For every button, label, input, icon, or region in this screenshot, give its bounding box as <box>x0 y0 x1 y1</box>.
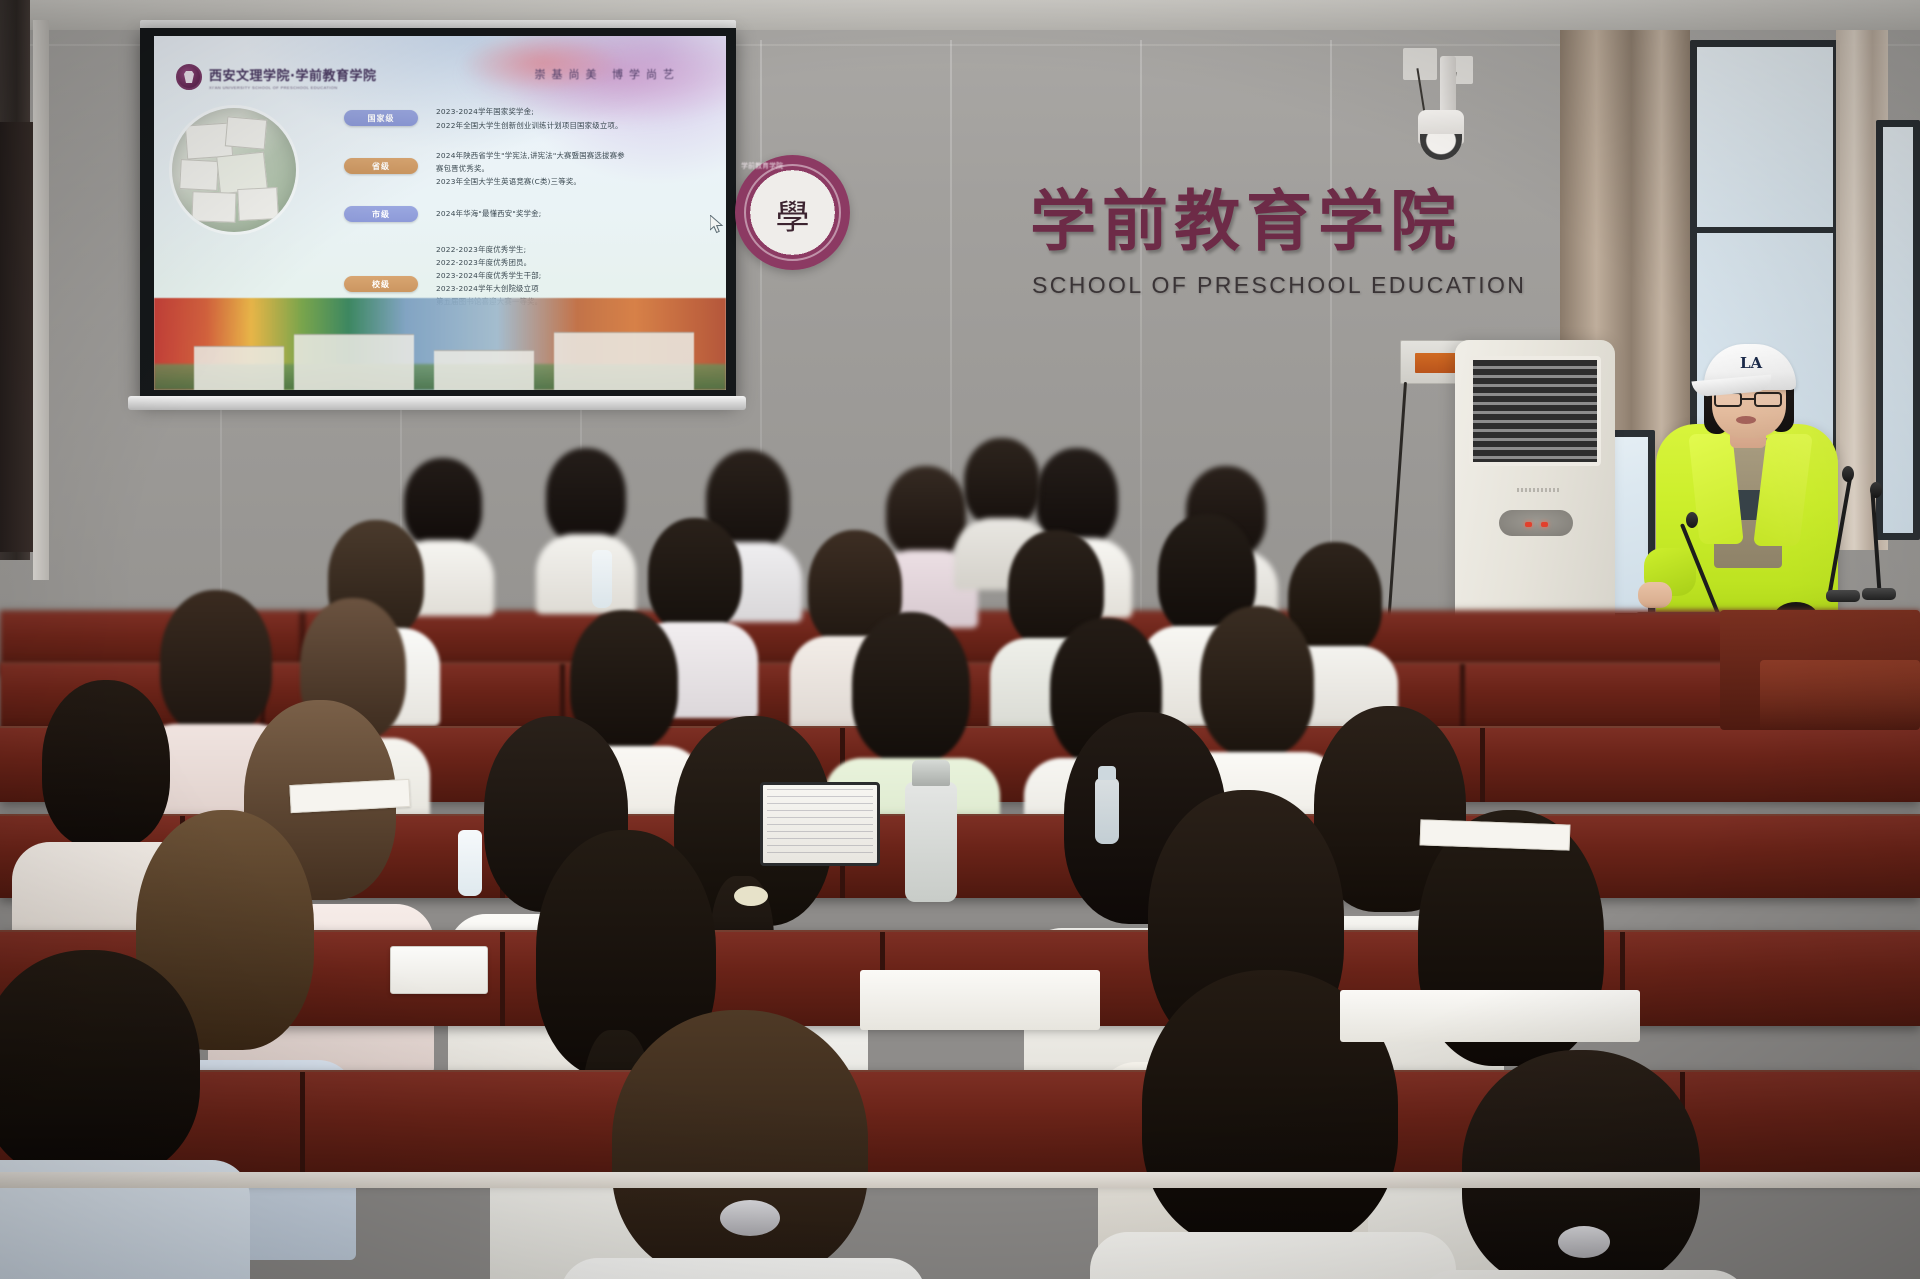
slide-badge-national: 国家级 <box>344 110 418 126</box>
projector-screen-bottom-bar <box>128 396 746 410</box>
school-name-en: SCHOOL OF PRESCHOOL EDUCATION <box>1032 272 1526 299</box>
white-box[interactable] <box>390 946 488 994</box>
audience-person <box>0 950 220 1279</box>
audience-area <box>0 430 1920 1279</box>
slide-line-national-2: 2022年全国大学生创新创业训练计划项目国家级立项。 <box>436 120 726 132</box>
slide-line-municipal-1: 2024年华海"最懂西安"奖学金; <box>436 208 726 220</box>
thermos-cap <box>912 760 950 786</box>
hair-clip <box>1558 1226 1610 1258</box>
slide-line-provincial-1: 2024年陕西省学生"学宪法,讲宪法"大赛暨国赛选拔赛参 <box>436 150 726 162</box>
slide-line-school-1: 2022-2023年度优秀学生; <box>436 244 726 256</box>
slide-badge-provincial: 省级 <box>344 158 418 174</box>
cap-logo-text: LA <box>1740 354 1758 372</box>
school-seal-icon: 学前教育学院 學 <box>735 155 850 270</box>
slide-line-school-2: 2022-2023年度优秀团员。 <box>436 257 726 269</box>
slide-badge-school: 校级 <box>344 276 418 292</box>
presentation-slide: 西安文理学院·学前教育学院 XI'AN UNIVERSITY SCHOOL OF… <box>154 36 726 390</box>
slide-logo: 西安文理学院·学前教育学院 XI'AN UNIVERSITY SCHOOL OF… <box>176 64 376 90</box>
thermos-bottle[interactable] <box>905 782 957 902</box>
projection-screen: 西安文理学院·学前教育学院 XI'AN UNIVERSITY SCHOOL OF… <box>140 28 736 400</box>
slide-line-school-3: 2023-2024年度优秀学生干部; <box>436 270 726 282</box>
slide-org-subtitle: XI'AN UNIVERSITY SCHOOL OF PRESCHOOL EDU… <box>209 85 376 90</box>
water-bottle[interactable] <box>592 550 612 608</box>
audience-person <box>590 1010 890 1279</box>
paper-sheet[interactable] <box>1420 819 1571 850</box>
slide-motto: 崇基尚美 博学尚艺 <box>535 66 681 82</box>
desk-ledge <box>0 1172 1920 1188</box>
audience-person <box>1440 1050 1720 1279</box>
slide-certificate-collage <box>172 108 296 232</box>
hair-scrunchie <box>734 886 768 906</box>
desk-surface-front <box>1340 990 1640 1042</box>
water-bottle[interactable] <box>1095 778 1119 844</box>
camera-mount-plate <box>1403 48 1437 80</box>
slide-line-school-4: 2023-2024学年大创院级立项 <box>436 283 726 295</box>
slide-line-provincial-2: 赛包晋优秀奖。 <box>436 163 726 175</box>
slide-badge-municipal: 市级 <box>344 206 418 222</box>
audience-person <box>840 612 980 802</box>
school-name-cn: 学前教育学院 <box>1030 168 1462 264</box>
presenter-mouth <box>1736 416 1756 424</box>
hair-clip <box>720 1200 780 1236</box>
desk-surface-front <box>860 970 1100 1030</box>
audience-person <box>540 448 632 568</box>
laptop[interactable] <box>760 782 880 866</box>
bottle-cap <box>1098 766 1116 780</box>
slide-line-provincial-3: 2023年全国大学生英语竞赛(C类)三等奖。 <box>436 176 726 188</box>
water-bottle[interactable] <box>458 830 482 896</box>
seat-block[interactable] <box>1760 660 1920 730</box>
slide-org-title: 西安文理学院·学前教育学院 <box>209 65 376 84</box>
slide-line-national-1: 2023-2024学年国家奖学金; <box>436 106 726 118</box>
lecture-hall-scene: 西安文理学院·学前教育学院 XI'AN UNIVERSITY SCHOOL OF… <box>0 0 1920 1279</box>
slide-seal-icon <box>176 64 202 90</box>
slide-campus-banner <box>154 298 726 390</box>
school-seal-glyph: 學 <box>772 191 814 239</box>
